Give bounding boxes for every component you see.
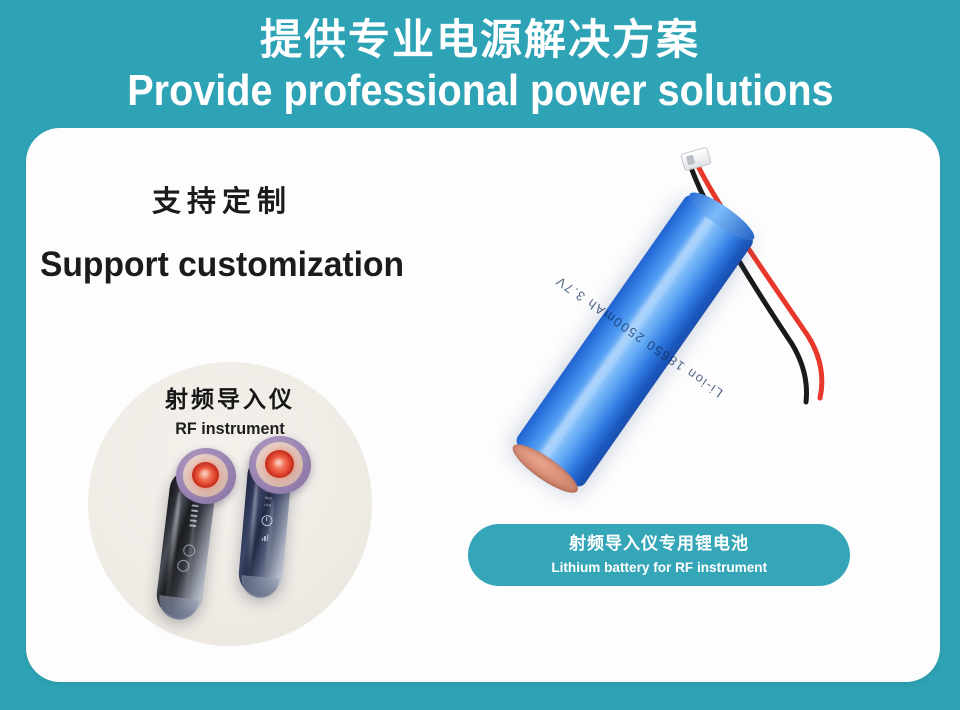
customization-heading-cn: 支持定制 [152,184,292,218]
caption-text-cn: 射频导入仪专用锂电池 [569,534,749,555]
power-icon [261,515,273,527]
battery-caption-pill: 射频导入仪专用锂电池 Lithium battery for RF instru… [468,524,850,586]
device-dark-head-core [199,469,212,481]
customization-heading-en: Support customization [40,244,404,286]
rf-label-en: RF instrument [95,418,365,440]
header: 提供专业电源解决方案 Provide professional power so… [0,0,960,130]
battery-assembly: Li-ion 18650 2500mAh 3.7V [470,140,890,510]
device-mode-label: RED [265,496,273,501]
signal-icon [261,534,268,542]
device-navy-head-core [273,458,286,470]
rf-instrument-circle: 射频导入仪 RF instrument [88,362,372,646]
page-title-en: Provide professional power solutions [127,66,833,116]
device-mode-label: LED [264,503,271,508]
device-highlight [164,489,183,604]
rf-label-cn: 射频导入仪 [88,386,372,414]
caption-text-en: Lithium battery for RF instrument [551,558,767,576]
page-title-cn: 提供专业电源解决方案 [260,16,700,64]
